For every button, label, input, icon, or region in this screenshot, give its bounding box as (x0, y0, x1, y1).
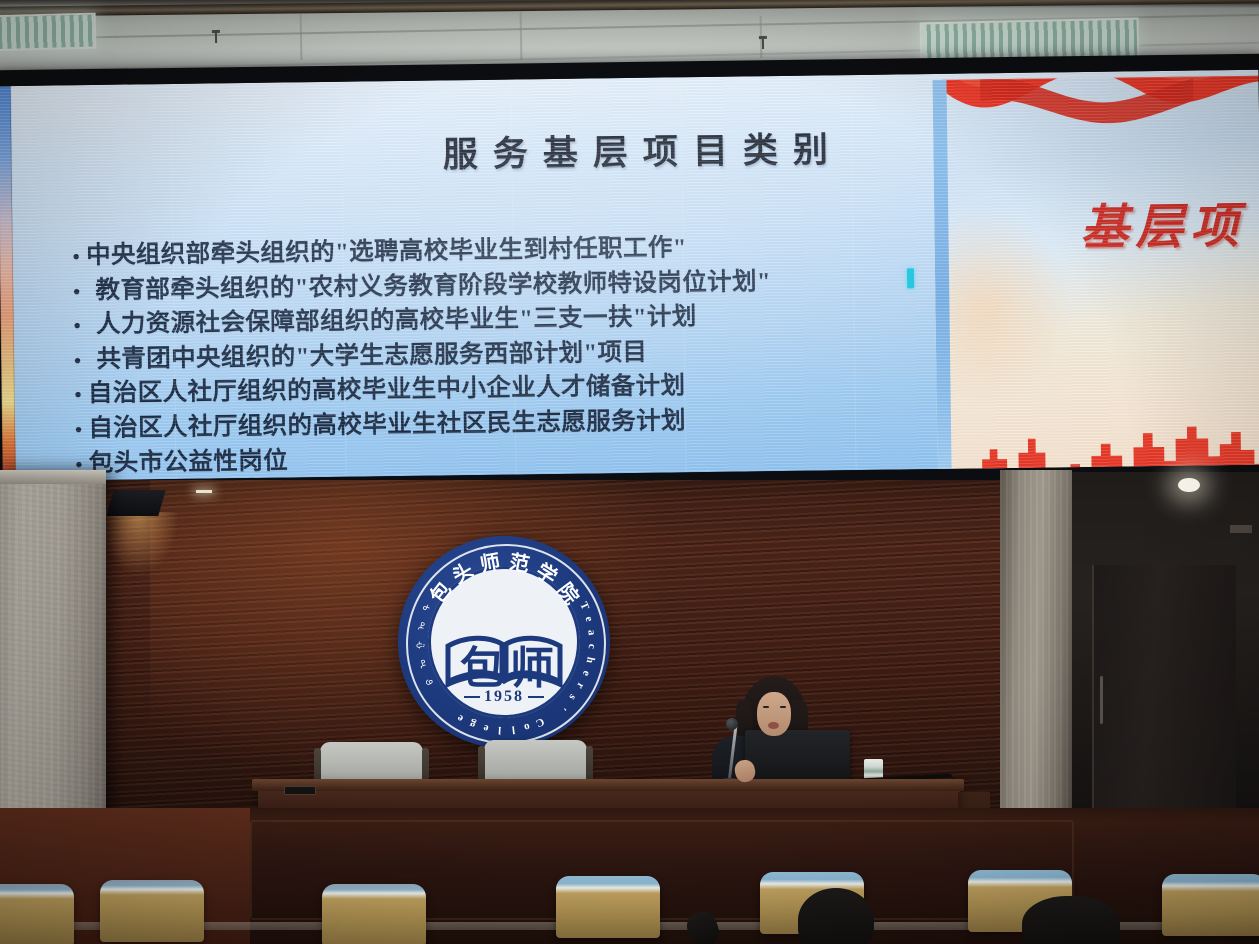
door-handle[interactable] (1100, 676, 1103, 724)
speaker-eye (780, 706, 786, 708)
ceiling-joint (300, 14, 303, 60)
bullet-marker: • (74, 386, 82, 406)
audience-seat[interactable] (0, 884, 74, 944)
bullet-marker: • (74, 351, 82, 371)
screen-display-area: 服务基层项目类别 • 中央组织部牵头组织的"选聘高校毕业生到村任职工作" • 教… (0, 70, 1259, 481)
red-ribbon-fold-icon (972, 76, 1201, 140)
school-emblem: 包头师范学院 Teachers' College ᠪᠤᠭᠤᠲᠤ 包 师 1958 (398, 536, 610, 748)
ceiling-beam (0, 0, 1259, 17)
bullet-marker: • (75, 420, 83, 440)
list-item-label: 自治区人社厅组织的高校毕业生社区民生志愿服务计划 (88, 405, 686, 444)
speaker-face (757, 692, 791, 736)
open-book-icon (444, 632, 564, 690)
wall-sconce-light (106, 490, 165, 516)
list-item-label: 自治区人社厅组织的高校毕业生中小企业人才储备计划 (88, 371, 686, 410)
sconce-light-glow (100, 512, 178, 574)
ceiling-spotlight (1178, 478, 1200, 492)
poster-headline: 基层项 (1080, 186, 1246, 258)
audience-person-head (798, 888, 874, 944)
ceiling-joint (520, 12, 523, 60)
audience-seat[interactable] (556, 876, 660, 938)
speaker-eye (763, 706, 769, 708)
ceiling-hook (762, 38, 764, 49)
bullet-marker: • (74, 316, 82, 336)
door-sign-plate (1230, 525, 1252, 533)
secondary-display-poster: 基层项 (932, 76, 1259, 469)
ceiling-hook (215, 32, 217, 43)
audience-person-head (1022, 896, 1120, 944)
ceiling-light-panel (0, 13, 96, 52)
bullet-marker: • (73, 247, 81, 267)
list-item-label: 中央组织部牵头组织的"选聘高校毕业生到村任职工作" (86, 232, 687, 271)
led-presentation-screen[interactable]: 服务基层项目类别 • 中央组织部牵头组织的"选聘高校毕业生到村任职工作" • 教… (0, 54, 1259, 496)
city-skyline-icon (950, 376, 1259, 469)
audience-seat[interactable] (1162, 874, 1259, 936)
pillar-cap (0, 470, 106, 484)
lecture-hall-photo: 服务基层项目类别 • 中央组织部牵头组织的"选聘高校毕业生到村任职工作" • 教… (0, 0, 1259, 944)
podium-plate (284, 786, 316, 795)
emblem-year: 1958 (398, 688, 610, 706)
list-item-label: 共青团中央组织的"大学生志愿服务西部计划"项目 (87, 337, 647, 375)
speaker-mouth (768, 722, 779, 729)
audience-seat[interactable] (100, 880, 204, 942)
list-item-label: 人力资源社会保障部组织的高校毕业生"三支一扶"计划 (87, 301, 697, 340)
ceiling-strip-light (196, 490, 212, 493)
list-item-label: 教育部牵头组织的"农村义务教育阶段学校教师特设岗位计划" (86, 266, 771, 306)
podium-top-edge (252, 779, 964, 791)
laser-pointer-cursor (907, 268, 914, 288)
list-item-label: 包头市公益性岗位 (89, 445, 289, 479)
audience-seat[interactable] (322, 884, 426, 944)
bullet-marker: • (73, 282, 81, 302)
microphone-icon[interactable] (726, 718, 738, 730)
